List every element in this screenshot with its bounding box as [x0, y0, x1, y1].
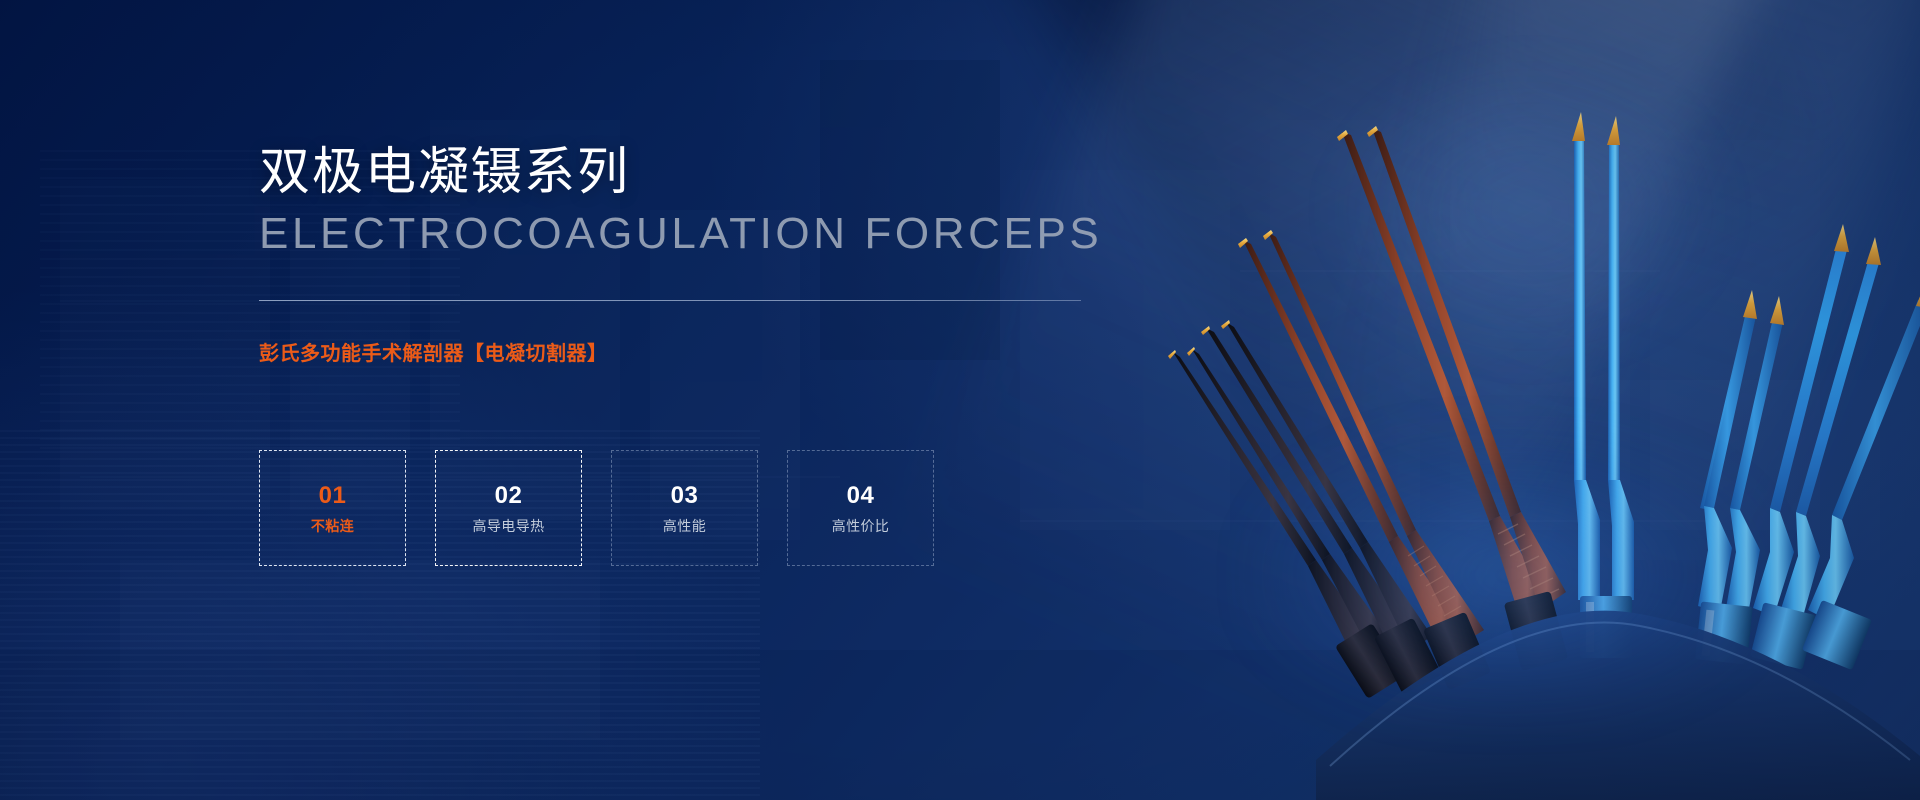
banner-content: 双极电凝镊系列 ELECTROCOAGULATION FORCEPS 彭氏多功能…	[0, 0, 1150, 800]
feature-label: 不粘连	[311, 519, 354, 533]
page-subtitle: 彭氏多功能手术解剖器【电凝切割器】	[259, 337, 608, 366]
feature-item-02[interactable]: 02 高导电导热	[435, 450, 582, 566]
page-title-chinese: 双极电凝镊系列	[259, 145, 630, 199]
feature-label: 高性能	[663, 519, 706, 533]
feature-number: 03	[671, 484, 699, 508]
page-title-english: ELECTROCOAGULATION FORCEPS	[259, 211, 1102, 257]
feature-label: 高性价比	[832, 519, 890, 533]
feature-list: 01 不粘连 02 高导电导热 03 高性能 04 高性价比	[259, 450, 934, 566]
feature-item-03[interactable]: 03 高性能	[611, 450, 758, 566]
title-divider	[259, 300, 1081, 301]
feature-item-01[interactable]: 01 不粘连	[259, 450, 406, 566]
feature-number: 04	[847, 484, 875, 508]
product-banner: 双极电凝镊系列 ELECTROCOAGULATION FORCEPS 彭氏多功能…	[0, 0, 1920, 800]
feature-item-04[interactable]: 04 高性价比	[787, 450, 934, 566]
feature-number: 01	[319, 484, 347, 508]
feature-label: 高导电导热	[473, 519, 545, 533]
feature-number: 02	[495, 484, 523, 508]
